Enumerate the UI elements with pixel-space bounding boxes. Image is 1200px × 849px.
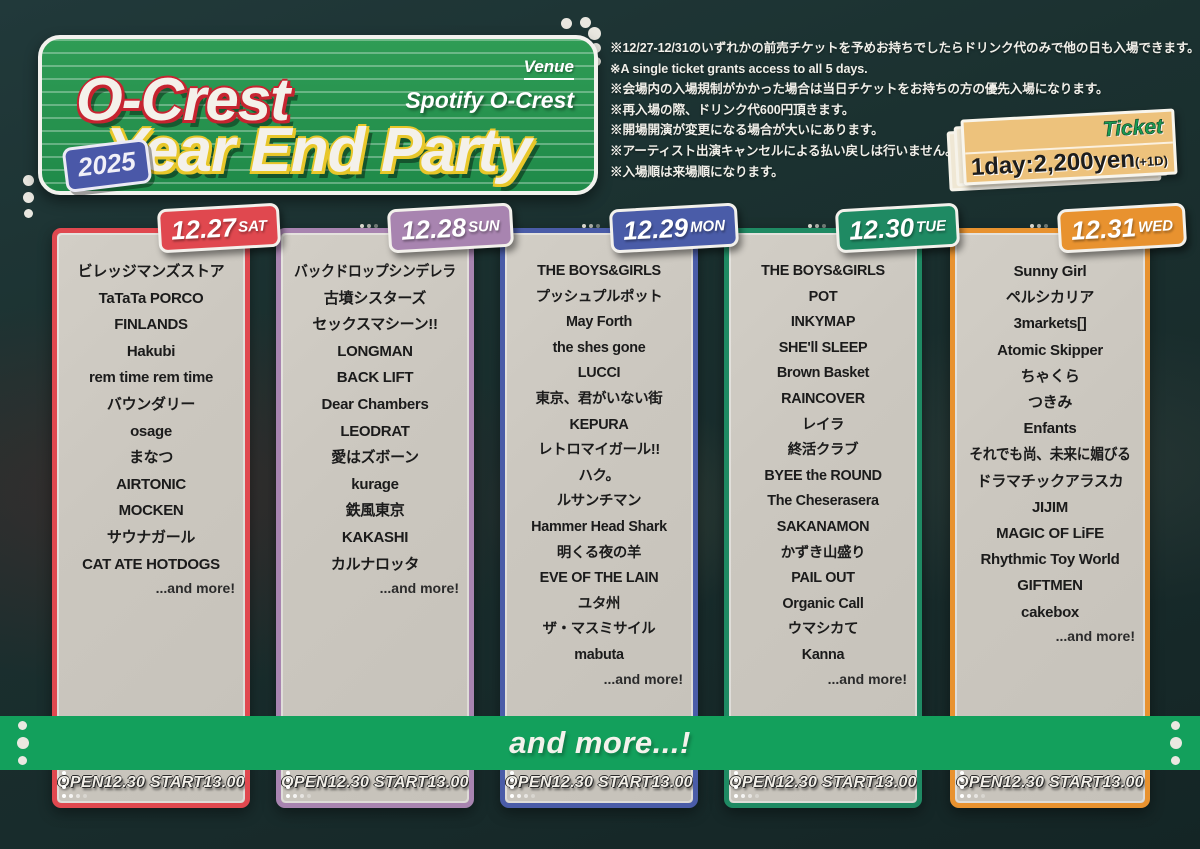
decor-dot: [374, 224, 378, 228]
artist-name: KAKASHI: [285, 525, 465, 552]
artist-name: AIRTONIC: [61, 472, 241, 499]
artist-name: PAIL OUT: [733, 566, 913, 592]
artist-name: ビレッジマンズストア: [61, 259, 241, 286]
decor-dot: [531, 794, 535, 798]
decor-dot: [510, 778, 514, 782]
decor-dot: [286, 794, 290, 798]
artist-name: LUCCI: [509, 361, 689, 387]
decor-dot: [307, 794, 311, 798]
tab-dots: [1030, 224, 1048, 228]
artist-name: 東京、君がいない街: [509, 387, 689, 413]
artist-name: Hammer Head Shark: [509, 515, 689, 541]
artist-name: 鉄風東京: [285, 498, 465, 525]
artist-name: Kanna: [733, 643, 913, 669]
artist-name: Enfants: [959, 416, 1141, 442]
artist-list: THE BOYS&GIRLSPOTINKYMAPSHE'll SLEEPBrow…: [733, 259, 913, 687]
note-item: ※12/27-12/31のいずれかの前売チケットを予めお持ちでしたらドリンク代の…: [610, 38, 1190, 59]
decor-dot: [561, 18, 572, 29]
artist-name: Brown Basket: [733, 361, 913, 387]
date-tab-12-30[interactable]: 12.30TUE: [835, 203, 960, 254]
note-item: ※A single ticket grants access to all 5 …: [610, 59, 1190, 80]
card-dots-side: [286, 771, 290, 789]
date-tab-date: 12.28: [400, 212, 467, 247]
title-banner: O-Crest Year End Party 2025 Venue Spotif…: [38, 35, 598, 195]
artist-name: Hakubi: [61, 339, 241, 366]
decor-dot: [815, 224, 819, 228]
artist-name: RAINCOVER: [733, 387, 913, 413]
card-dots-bottom: [286, 794, 311, 798]
artist-name: KEPURA: [509, 413, 689, 439]
decor-dot: [1030, 224, 1034, 228]
decor-dot: [734, 785, 738, 789]
open-start-times: OPEN12.30 START13.00: [505, 774, 693, 792]
decor-dot: [1171, 756, 1180, 765]
decor-dot: [960, 778, 964, 782]
and-more-label: ...and more!: [959, 628, 1141, 644]
artist-name: 愛はズボーン: [285, 445, 465, 472]
artist-name: Organic Call: [733, 592, 913, 618]
and-more-banner: and more...!: [0, 716, 1200, 770]
ticket-front: Ticket 1day:2,200yen(+1D): [960, 108, 1177, 185]
decor-dot: [1170, 737, 1182, 749]
card-dots-side: [510, 771, 514, 789]
artist-name: mabuta: [509, 643, 689, 669]
decor-dot: [18, 721, 27, 730]
and-more-text: and more...!: [509, 725, 691, 761]
decor-dot: [974, 794, 978, 798]
artist-name: ウマシカて: [733, 617, 913, 643]
decor-dot: [748, 794, 752, 798]
date-tab-12-29[interactable]: 12.29MON: [609, 202, 739, 253]
artist-name: ペルシカリア: [959, 285, 1141, 311]
artist-name: レイラ: [733, 413, 913, 439]
decor-dot: [596, 224, 600, 228]
artist-name: POT: [733, 285, 913, 311]
artist-name: ちゃくら: [959, 364, 1141, 390]
date-tab-weekday: SUN: [468, 217, 501, 236]
card-dots-side: [734, 771, 738, 789]
artist-name: まなつ: [61, 445, 241, 472]
decor-dot: [62, 771, 66, 775]
artist-list: THE BOYS&GIRLSプッシュプルポットMay Forththe shes…: [509, 259, 689, 687]
decor-dot: [580, 17, 591, 28]
decor-dot: [18, 756, 27, 765]
decor-dot: [286, 771, 290, 775]
artist-name: the shes gone: [509, 336, 689, 362]
ticket-price-suffix: (+1D): [1135, 153, 1169, 170]
artist-name: バウンダリー: [61, 392, 241, 419]
artist-name: レトロマイガール!!: [509, 438, 689, 464]
and-more-label: ...and more!: [733, 671, 913, 687]
artist-name: EVE OF THE LAIN: [509, 566, 689, 592]
decor-dot: [286, 778, 290, 782]
date-tab-12-28[interactable]: 12.28SUN: [387, 203, 514, 254]
artist-name: The Cheserasera: [733, 489, 913, 515]
artist-name: LONGMAN: [285, 339, 465, 366]
artist-name: 古墳シスターズ: [285, 286, 465, 313]
artist-name: それでも尚、未来に媚びる: [967, 442, 1134, 468]
decor-dot: [367, 224, 371, 228]
venue-name: Spotify O-Crest: [405, 87, 574, 114]
artist-name: MOCKEN: [61, 498, 241, 525]
date-tab-weekday: MON: [690, 217, 726, 236]
decor-dot: [582, 224, 586, 228]
date-tab-date: 12.27: [170, 212, 237, 247]
artist-name: つきみ: [959, 390, 1141, 416]
artist-name: ドラマチックアラスカ: [959, 469, 1141, 495]
artist-name: Rhythmic Toy World: [959, 547, 1141, 573]
artist-name: かずき山盛り: [733, 541, 913, 567]
artist-list: ビレッジマンズストアTaTaTa PORCOFINLANDSHakubirem …: [61, 259, 241, 596]
ticket-label: Ticket: [1102, 115, 1164, 142]
and-more-label: ...and more!: [509, 671, 689, 687]
artist-name: THE BOYS&GIRLS: [509, 259, 689, 285]
decor-dot: [510, 785, 514, 789]
decor-dot: [17, 737, 29, 749]
artist-name: カルナロッタ: [285, 552, 465, 579]
banner-dots-right: [1171, 721, 1182, 765]
card-dots-bottom: [734, 794, 759, 798]
artist-name: ユタ州: [509, 592, 689, 618]
decor-dot: [24, 209, 33, 218]
decor-dot: [960, 785, 964, 789]
artist-name: ハク。: [509, 464, 689, 490]
and-more-label: ...and more!: [285, 580, 465, 596]
banner-dots-left: [18, 721, 29, 765]
decor-dot: [510, 771, 514, 775]
open-start-times: OPEN12.30 START13.00: [729, 774, 917, 792]
decor-dot: [293, 794, 297, 798]
decor-dot: [960, 794, 964, 798]
open-start-times: OPEN12.30 START13.00: [955, 774, 1145, 792]
artist-name: プッシュプルポット: [509, 285, 689, 311]
card-dots-bottom: [960, 794, 985, 798]
decor-dot: [734, 794, 738, 798]
artist-name: LEODRAT: [285, 419, 465, 446]
artist-name: 明くる夜の羊: [509, 541, 689, 567]
artist-name: ルサンチマン: [509, 489, 689, 515]
artist-name: kurage: [285, 472, 465, 499]
artist-name: Dear Chambers: [285, 392, 465, 419]
card-dots-side: [960, 771, 964, 789]
date-tab-12-27[interactable]: 12.27SAT: [157, 203, 281, 254]
note-item: ※会場内の入場規制がかかった場合は当日チケットをお持ちの方の優先入場になります。: [610, 79, 1190, 100]
artist-name: GIFTMEN: [959, 573, 1141, 599]
artist-name: 3markets[]: [959, 311, 1141, 337]
decor-dot: [62, 794, 66, 798]
artist-name: rem time rem time: [61, 365, 241, 392]
artist-list: バックドロップシンデレラ古墳シスターズセックスマシーン!!LONGMANBACK…: [285, 259, 465, 596]
decor-dot: [808, 224, 812, 228]
tab-dots: [808, 224, 826, 228]
decor-dot: [822, 224, 826, 228]
decor-dot: [981, 794, 985, 798]
tab-dots: [360, 224, 378, 228]
date-tab-12-31[interactable]: 12.31WED: [1057, 202, 1187, 253]
decor-dot: [741, 794, 745, 798]
decor-dot: [967, 794, 971, 798]
decor-dot: [62, 778, 66, 782]
decor-dot: [300, 794, 304, 798]
artist-name: TaTaTa PORCO: [61, 286, 241, 313]
decor-dot: [1037, 224, 1041, 228]
artist-name: May Forth: [509, 310, 689, 336]
venue-block: Venue Spotify O-Crest: [405, 57, 574, 114]
decor-dot: [1171, 721, 1180, 730]
decor-dot: [1044, 224, 1048, 228]
artist-name: セックスマシーン!!: [285, 312, 465, 339]
date-tab-weekday: SAT: [238, 217, 268, 236]
decor-dot: [83, 794, 87, 798]
page-title-line2: Year End Party: [106, 115, 531, 186]
artist-list: Sunny Girlペルシカリア3markets[]Atomic Skipper…: [959, 259, 1141, 644]
artist-name: osage: [61, 419, 241, 446]
artist-name: CAT ATE HOTDOGS: [61, 552, 241, 579]
artist-name: THE BOYS&GIRLS: [733, 259, 913, 285]
date-tab-weekday: TUE: [916, 217, 947, 236]
open-start-times: OPEN12.30 START13.00: [57, 774, 245, 792]
decor-dot: [589, 224, 593, 228]
decor-dot: [517, 794, 521, 798]
poster-root: O-Crest Year End Party 2025 Venue Spotif…: [0, 0, 1200, 849]
artist-name: MAGIC OF LiFE: [959, 521, 1141, 547]
artist-name: サウナガール: [61, 525, 241, 552]
artist-name: ザ・マスミサイル: [509, 617, 689, 643]
decor-dot: [524, 794, 528, 798]
tab-dots: [582, 224, 600, 228]
artist-name: BACK LIFT: [285, 365, 465, 392]
decor-dot: [734, 778, 738, 782]
decor-dot: [360, 224, 364, 228]
decor-dot: [734, 771, 738, 775]
date-tab-date: 12.29: [622, 212, 689, 247]
date-tab-weekday: WED: [1138, 217, 1174, 236]
artist-name: 終活クラブ: [733, 438, 913, 464]
date-tab-date: 12.30: [848, 212, 915, 247]
artist-name: cakebox: [959, 600, 1141, 626]
artist-name: SHE'll SLEEP: [733, 336, 913, 362]
decor-dot: [23, 192, 34, 203]
artist-name: SAKANAMON: [733, 515, 913, 541]
ticket-badge: Ticket 1day:2,200yen(+1D): [948, 112, 1180, 190]
decor-dot: [69, 794, 73, 798]
decor-dot: [960, 771, 964, 775]
and-more-label: ...and more!: [61, 580, 241, 596]
artist-name: BYEE the ROUND: [733, 464, 913, 490]
card-dots-bottom: [510, 794, 535, 798]
venue-label: Venue: [524, 57, 574, 80]
artist-name: INKYMAP: [733, 310, 913, 336]
artist-name: JIJIM: [959, 495, 1141, 521]
artist-name: Atomic Skipper: [959, 338, 1141, 364]
date-tab-date: 12.31: [1070, 212, 1137, 247]
decor-dot: [510, 794, 514, 798]
decor-dot: [286, 785, 290, 789]
artist-name: Sunny Girl: [959, 259, 1141, 285]
decor-dot: [755, 794, 759, 798]
decor-dot: [62, 785, 66, 789]
decor-dot: [23, 175, 34, 186]
artist-name: FINLANDS: [61, 312, 241, 339]
card-dots-bottom: [62, 794, 87, 798]
decor-dot: [76, 794, 80, 798]
card-dots-side: [62, 771, 66, 789]
open-start-times: OPEN12.30 START13.00: [281, 774, 469, 792]
artist-name: バックドロップシンデレラ: [292, 259, 457, 286]
